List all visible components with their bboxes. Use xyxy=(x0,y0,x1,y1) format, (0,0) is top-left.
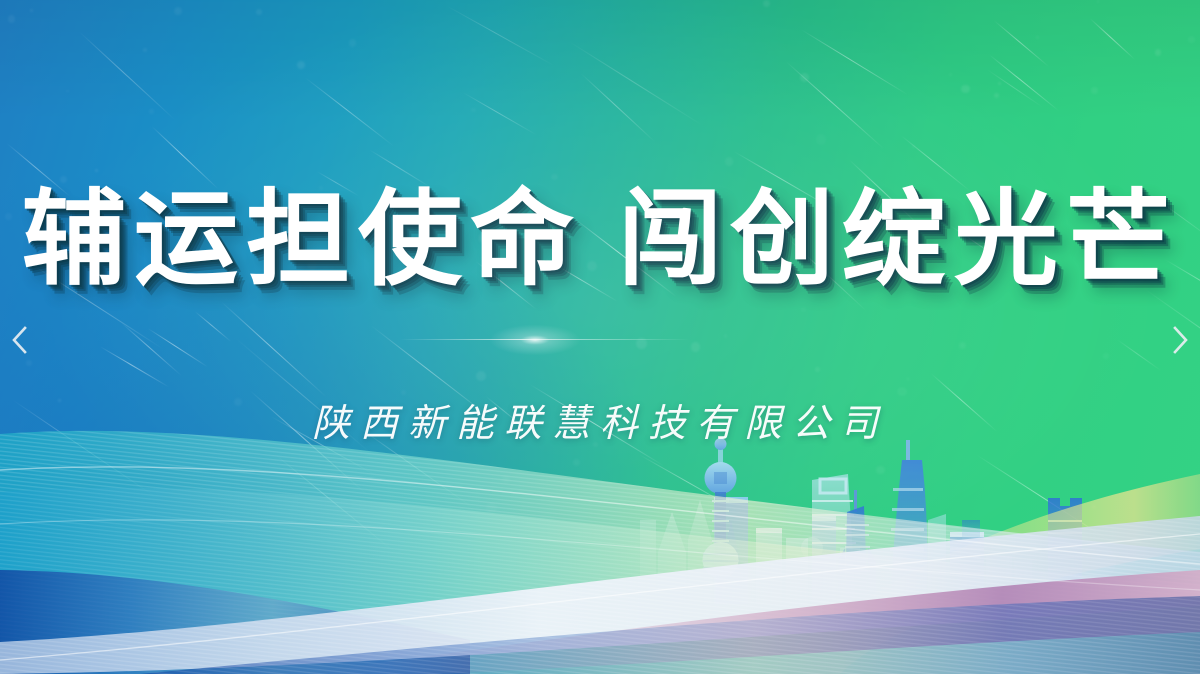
hero-banner-slide: 辅运担使命闯创绽光芒 陕西新能联慧科技有限公司 xyxy=(0,0,1200,674)
vignette-overlay xyxy=(0,0,1200,674)
